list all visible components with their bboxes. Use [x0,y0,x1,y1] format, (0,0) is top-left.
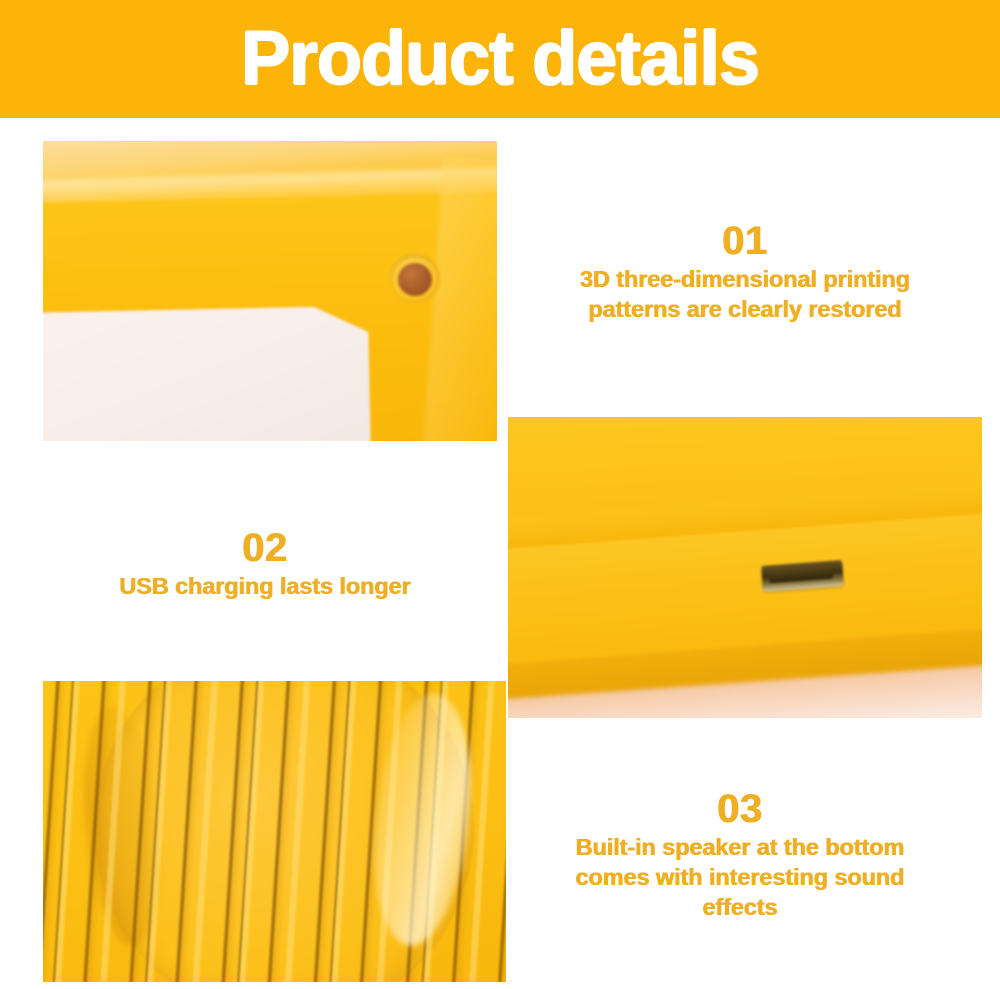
feature-caption-03-line-2: comes with interesting sound [500,862,980,892]
feature-caption-03-line-3: effects [500,892,980,922]
feature-number-02: 02 [30,525,500,571]
feature-photo-3 [43,681,506,982]
device-inner-panel [43,305,371,441]
feature-photo-1 [43,141,497,441]
header-banner: Product details [0,0,1000,118]
photo-2-detail-layer [508,417,982,718]
brown-round-button [398,263,432,296]
photo-1-detail-layer [43,141,497,441]
feature-caption-02-line-1: USB charging lasts longer [30,571,500,601]
page-title: Product details [241,20,759,98]
feature-text-02: 02 USB charging lasts longer [30,525,500,601]
feature-caption-01-line-1: 3D three-dimensional printing [510,264,980,294]
photo-3-detail-layer [43,681,506,982]
feature-photo-2 [508,417,982,718]
feature-number-01: 01 [510,218,980,264]
feature-caption-03-line-1: Built-in speaker at the bottom [500,832,980,862]
feature-number-03: 03 [500,786,980,832]
feature-caption-01-line-2: patterns are clearly restored [510,294,980,324]
product-details-page: Product details 01 3D three-dimensional … [0,0,1000,989]
feature-text-01: 01 3D three-dimensional printing pattern… [510,218,980,324]
feature-text-03: 03 Built-in speaker at the bottom comes … [500,786,980,922]
